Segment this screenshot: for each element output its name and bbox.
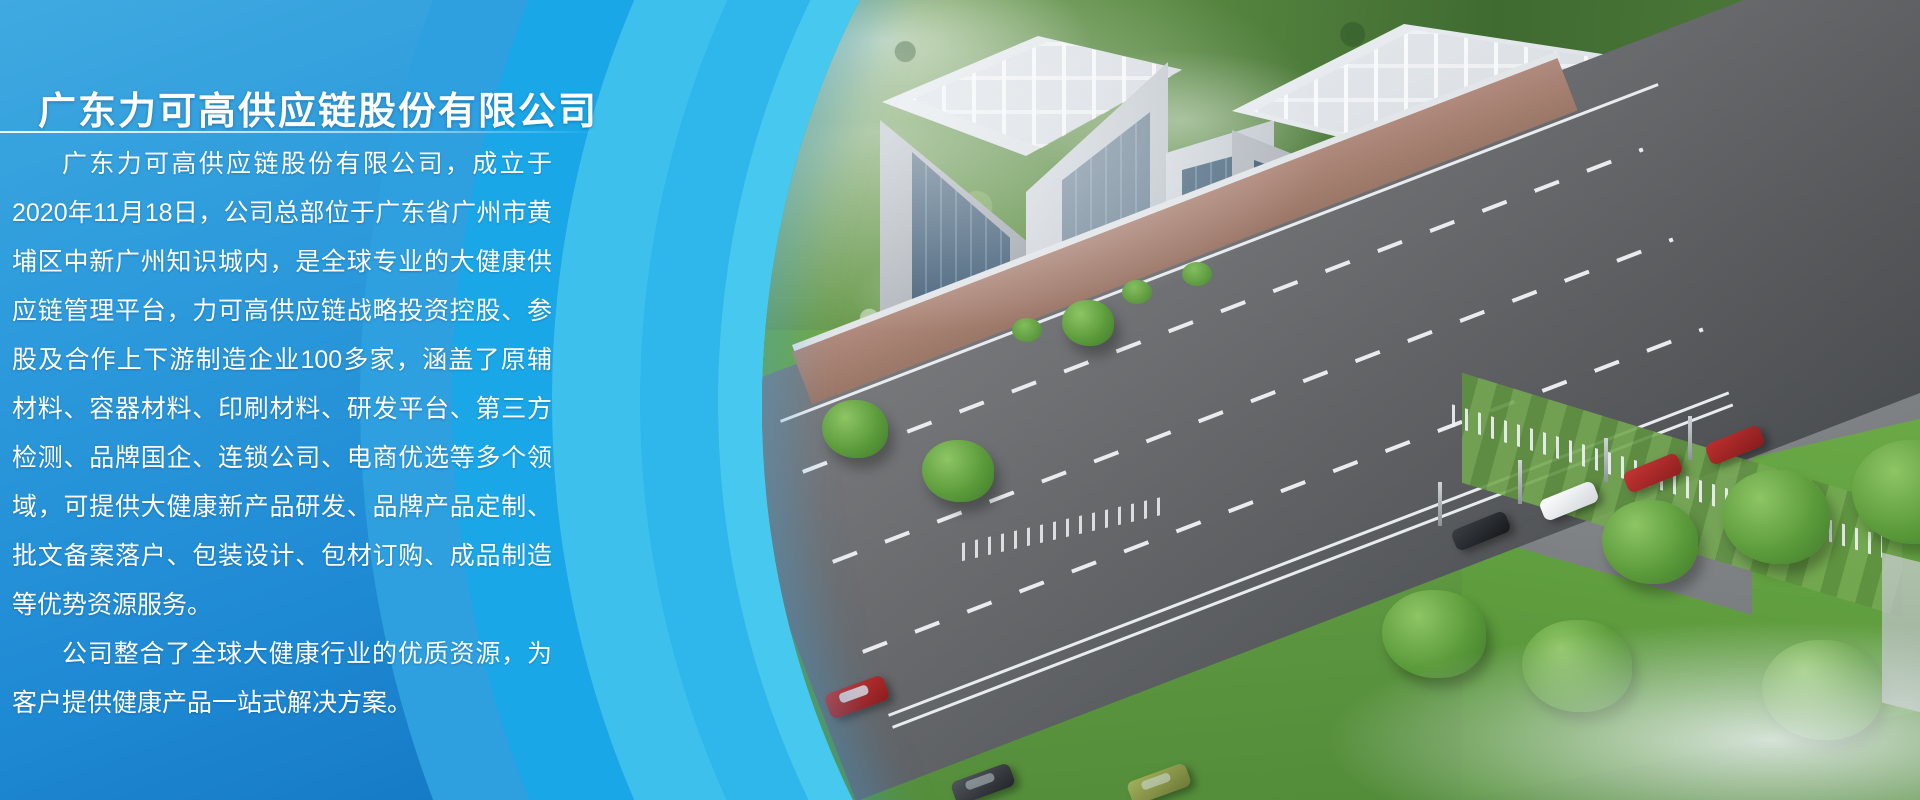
street-tree: [922, 440, 994, 502]
park-tree: [1722, 470, 1830, 564]
atmospheric-haze-bottom: [1322, 620, 1920, 800]
street-light-pole: [1518, 460, 1522, 504]
park-tree: [1602, 500, 1698, 584]
street-tree: [822, 400, 888, 458]
street-light-pole: [1604, 438, 1608, 482]
text-panel: 广东力可高供应链股份有限公司 广东力可高供应链股份有限公司，成立于2020年11…: [0, 0, 620, 800]
paragraph-1: 广东力可高供应链股份有限公司，成立于2020年11月18日，公司总部位于广东省广…: [12, 140, 552, 630]
title-divider: [0, 131, 600, 133]
facility-photo-disc: [762, 0, 1920, 800]
paragraph-2: 公司整合了全球大健康行业的优质资源，为客户提供健康产品一站式解决方案。: [12, 630, 552, 728]
street-light-pole: [1688, 416, 1692, 460]
company-profile-banner: 广东力可高供应链股份有限公司 广东力可高供应链股份有限公司，成立于2020年11…: [0, 0, 1920, 800]
street-light-pole: [1438, 482, 1442, 526]
company-description: 广东力可高供应链股份有限公司，成立于2020年11月18日，公司总部位于广东省广…: [12, 140, 552, 728]
atmospheric-haze-top: [762, 0, 1322, 330]
page-title: 广东力可高供应链股份有限公司: [38, 80, 598, 135]
